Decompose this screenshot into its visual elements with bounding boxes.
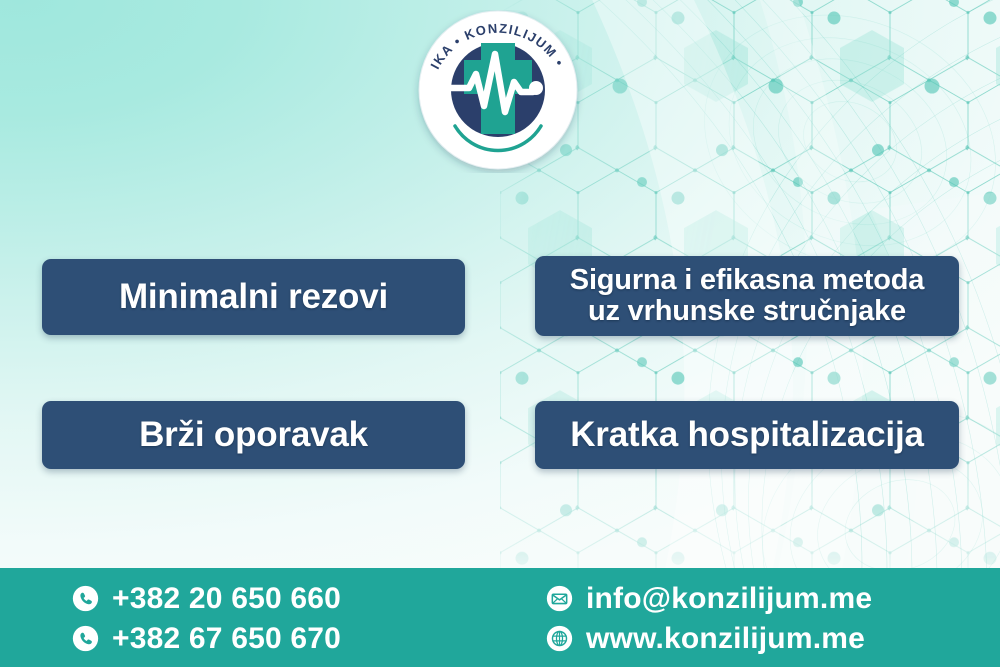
footer-phone-column: +382 20 650 660 +382 67 650 670 [72, 579, 341, 659]
contact-row-website[interactable]: www.konzilijum.me [546, 619, 872, 658]
envelope-icon [546, 585, 573, 612]
phone-icon [72, 625, 99, 652]
globe-icon [546, 625, 573, 652]
feature-label-line-1: Sigurna i efikasna metoda [570, 264, 924, 296]
feature-box-kratka-hospitalizacija[interactable]: Kratka hospitalizacija [535, 401, 959, 469]
feature-label: Kratka hospitalizacija [570, 415, 924, 455]
feature-label: Brži oporavak [139, 415, 368, 455]
phone-number: +382 20 650 660 [112, 582, 341, 616]
email-address: info@konzilijum.me [586, 582, 872, 616]
phone-icon [72, 585, 99, 612]
promo-banner: POLIKLINIKA • KONZILIJUM • BOLNICA Minim… [0, 0, 1000, 667]
feature-label: Minimalni rezovi [119, 277, 388, 317]
konzilijum-logo: POLIKLINIKA • KONZILIJUM • BOLNICA [411, 10, 585, 173]
feature-label-line-2: uz vrhunske stručnjake [588, 295, 906, 327]
footer-web-column: info@konzilijum.me www.konzilijum.me [546, 579, 872, 659]
website-url: www.konzilijum.me [586, 622, 865, 656]
feature-box-minimalni-rezovi[interactable]: Minimalni rezovi [42, 259, 465, 335]
feature-box-brzi-oporavak[interactable]: Brži oporavak [42, 401, 465, 469]
feature-label: Sigurna i efikasna metoda uz vrhunske st… [562, 265, 932, 326]
contact-row-phone-2[interactable]: +382 67 650 670 [72, 619, 341, 658]
phone-number: +382 67 650 670 [112, 622, 341, 656]
contact-footer: +382 20 650 660 +382 67 650 670 info@kon [0, 568, 1000, 667]
contact-row-phone-1[interactable]: +382 20 650 660 [72, 579, 341, 618]
contact-row-email[interactable]: info@konzilijum.me [546, 579, 872, 618]
feature-box-sigurna-metoda[interactable]: Sigurna i efikasna metoda uz vrhunske st… [535, 256, 959, 336]
